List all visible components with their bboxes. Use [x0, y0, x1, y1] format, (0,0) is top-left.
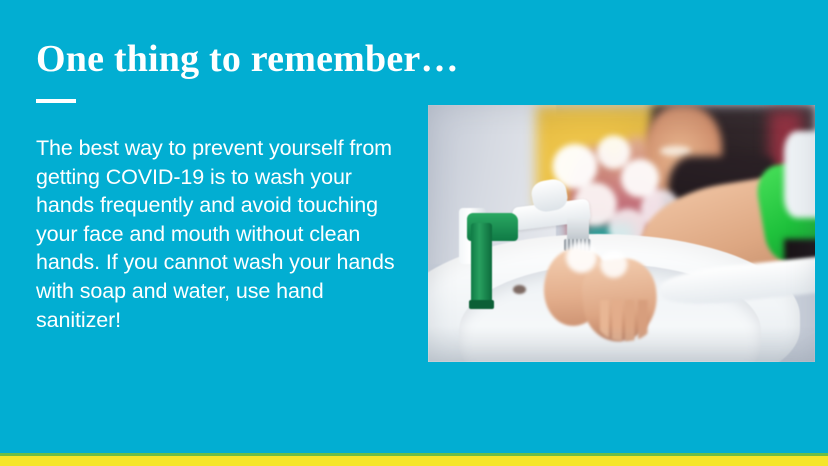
page-title: One thing to remember…: [36, 36, 456, 82]
footer-yellow-bar: [0, 456, 828, 466]
photo-foam-on-hands: [556, 239, 641, 285]
body-paragraph: The best way to prevent yourself from ge…: [36, 134, 408, 334]
photo-green-pipe-foot: [469, 300, 494, 309]
photo-drain: [513, 285, 525, 294]
title-divider-rule: [36, 99, 76, 103]
photo-bottom-shadow: [428, 326, 815, 362]
photo-white-sleeve: [784, 131, 815, 218]
photo-content: [428, 105, 815, 362]
slide-canvas: One thing to remember… The best way to p…: [0, 0, 828, 466]
handwashing-photo: [428, 105, 815, 362]
photo-green-pipe: [471, 223, 492, 305]
